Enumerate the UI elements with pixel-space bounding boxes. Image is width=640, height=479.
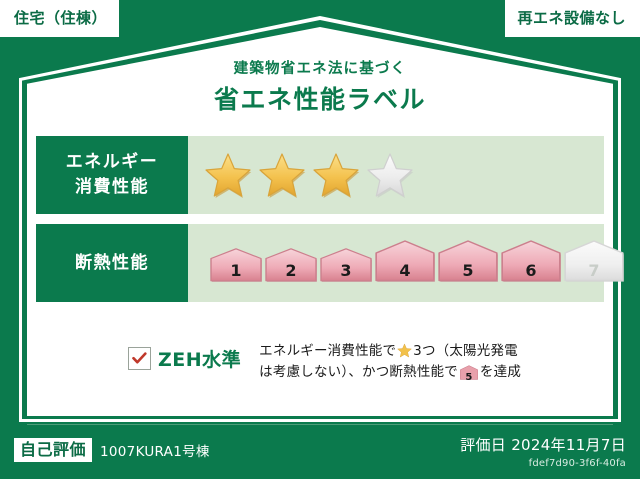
row-energy-label-line2: 消費性能	[75, 175, 149, 200]
zeh-description-line2: は考慮しない）、かつ断熱性能で5を達成	[259, 362, 521, 387]
zeh-text-c: は考慮しない）、かつ断熱性能で	[259, 364, 458, 380]
footer-left: 自己評価 1007KURA1号棟	[14, 438, 210, 462]
star-icon-filled	[204, 152, 252, 198]
row-insulation-body: 1234567	[188, 224, 624, 302]
footer-right: 評価日 2024年11月7日 fdef7d90-3f6f-40fa	[460, 434, 626, 469]
house-icon-filled: 3	[320, 248, 372, 286]
zeh-description: エネルギー消費性能で3つ（太陽光発電 は考慮しない）、かつ断熱性能で5を達成	[259, 341, 521, 387]
house-icon-filled: 6	[501, 240, 561, 286]
star-rating	[204, 152, 414, 198]
house-icon-number: 5	[460, 370, 478, 386]
star-icon-empty	[366, 152, 414, 198]
house-icon-filled: 2	[265, 248, 317, 286]
zeh-note: ZEH水準 エネルギー消費性能で3つ（太陽光発電 は考慮しない）、かつ断熱性能で…	[128, 341, 521, 387]
building-name: 1007KURA1号棟	[100, 440, 210, 460]
zeh-text-b: 3つ（太陽光発電	[413, 343, 518, 359]
energy-performance-label: 住宅（住棟） 再エネ設備なし 建築物省エネ法に基づく 省エネ性能ラベル エネルギ…	[0, 0, 640, 479]
star-icon-filled	[258, 152, 306, 198]
house-rating: 1234567	[204, 240, 624, 286]
row-insulation-label: 断熱性能	[36, 224, 188, 302]
zeh-text-a: エネルギー消費性能で	[259, 343, 396, 359]
star-icon	[397, 343, 412, 358]
zeh-checkbox[interactable]	[128, 347, 151, 370]
title-subtitle: 建築物省エネ法に基づく	[0, 57, 640, 78]
row-insulation-label-line1: 断熱性能	[75, 251, 149, 276]
row-energy-label: エネルギー 消費性能	[36, 136, 188, 214]
evaluation-date-label: 評価日	[460, 436, 506, 454]
house-icon-empty: 7	[564, 240, 624, 286]
house-icon-filled: 4	[375, 240, 435, 286]
row-energy-label-line1: エネルギー	[66, 150, 159, 175]
house-icon-filled: 5	[438, 240, 498, 286]
zeh-description-line1: エネルギー消費性能で3つ（太陽光発電	[259, 341, 521, 362]
evaluation-date: 評価日 2024年11月7日	[460, 434, 626, 455]
tag-renewable-energy: 再エネ設備なし	[505, 0, 640, 37]
house-icon: 5	[460, 365, 478, 387]
star-icon-filled	[312, 152, 360, 198]
rating-rows: エネルギー 消費性能 断熱性能 1234567	[36, 136, 604, 312]
evaluation-date-value: 2024年11月7日	[511, 436, 626, 454]
footer-divider	[27, 424, 613, 425]
title-main: 省エネ性能ラベル	[0, 80, 640, 116]
footer: 自己評価 1007KURA1号棟 評価日 2024年11月7日 fdef7d90…	[0, 430, 640, 479]
check-icon	[132, 352, 147, 365]
row-insulation-performance: 断熱性能 1234567	[36, 224, 604, 302]
zeh-title: ZEH水準	[158, 345, 241, 372]
self-evaluation-badge: 自己評価	[14, 438, 92, 462]
row-energy-body	[188, 136, 604, 214]
house-icon-filled: 1	[210, 248, 262, 286]
document-id: fdef7d90-3f6f-40fa	[460, 458, 626, 469]
row-energy-performance: エネルギー 消費性能	[36, 136, 604, 214]
zeh-text-d: を達成	[480, 364, 521, 380]
tag-building-type: 住宅（住棟）	[0, 0, 119, 37]
